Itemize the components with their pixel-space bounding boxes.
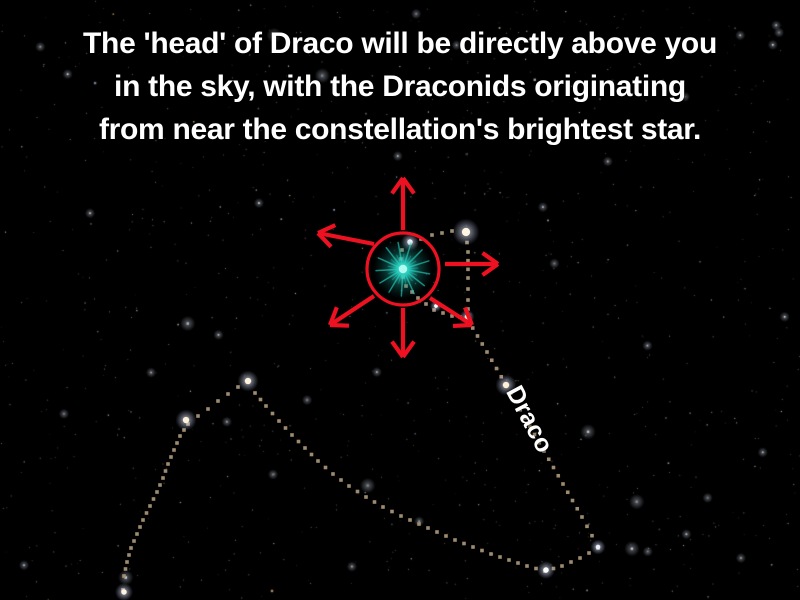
night-sky-annotated-image: The 'head' of Draco will be directly abo…	[0, 0, 800, 600]
caption-line-3: from near the constellation's brightest …	[0, 108, 800, 151]
caption-line-1: The 'head' of Draco will be directly abo…	[0, 22, 800, 65]
caption-line-2: in the sky, with the Draconids originati…	[0, 65, 800, 108]
caption-text: The 'head' of Draco will be directly abo…	[0, 22, 800, 151]
